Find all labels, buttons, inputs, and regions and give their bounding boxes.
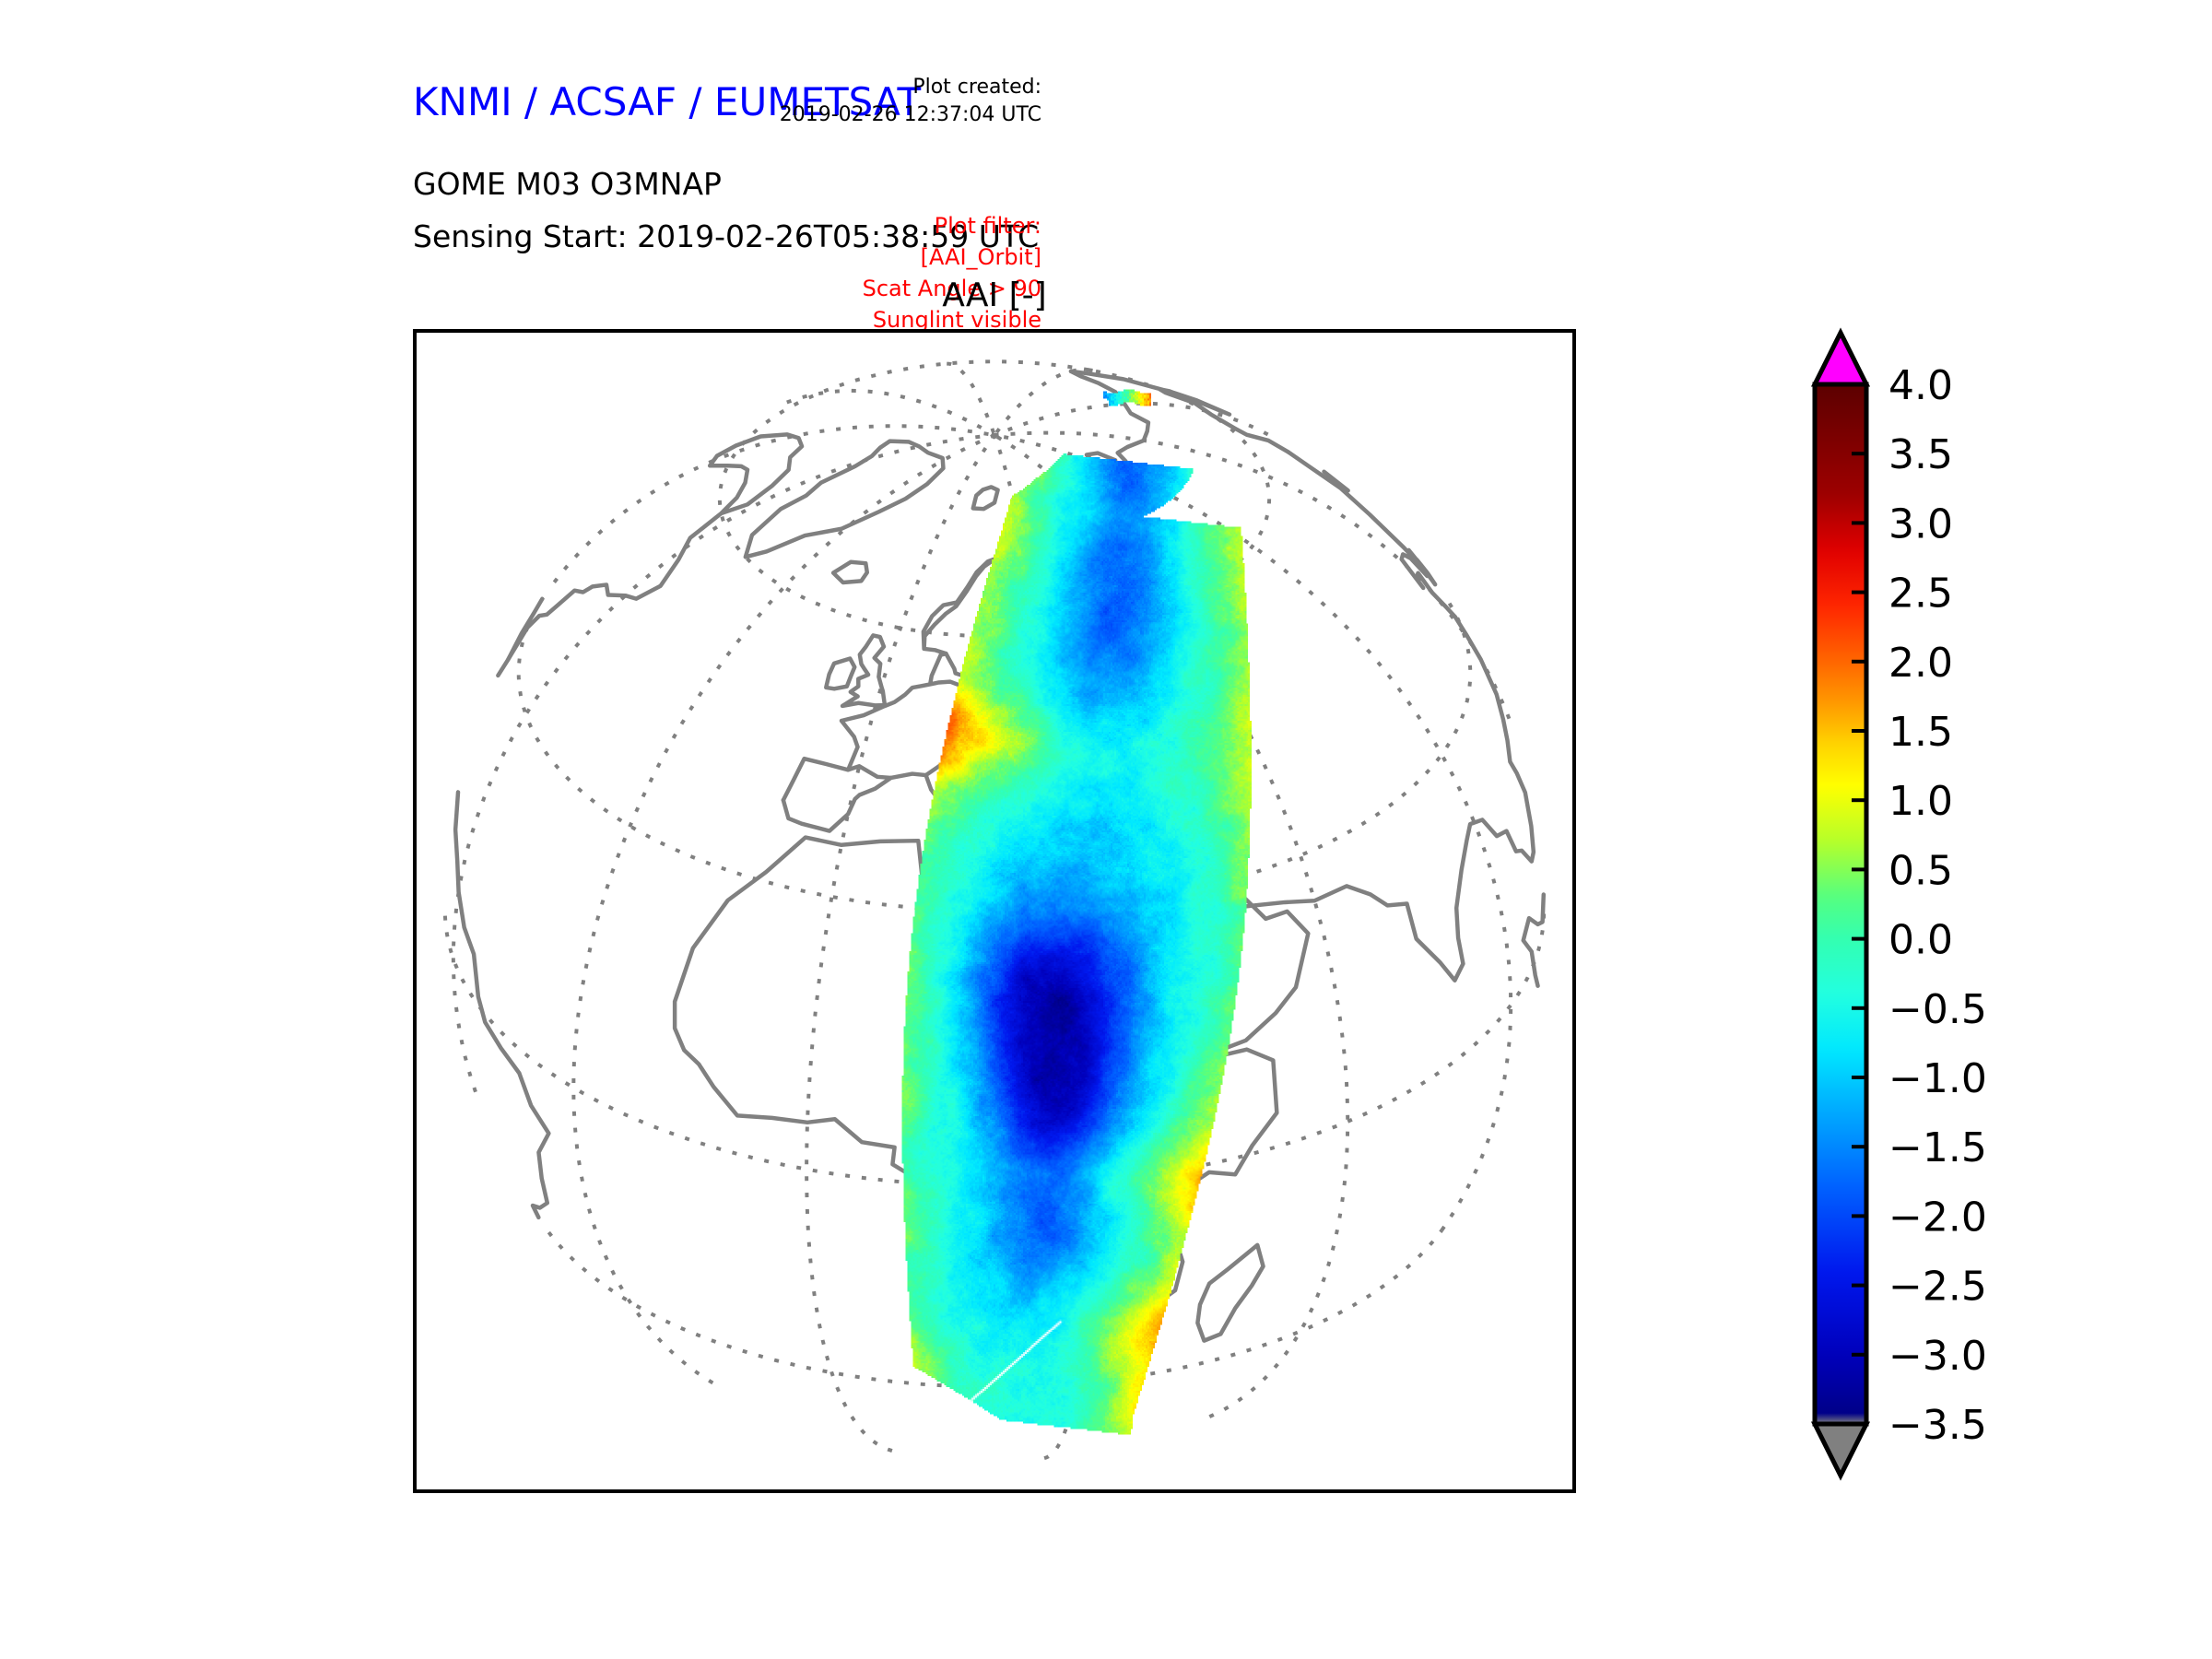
colorbar-tick-label: −2.5: [1888, 1264, 1987, 1311]
colorbar-tick-label: 2.0: [1888, 640, 1953, 687]
colorbar-over-range-arrow: [1815, 333, 1866, 384]
plot-filter-line-1: [AAI_Orbit]: [863, 241, 1041, 273]
colorbar-tick-label: 4.0: [1888, 362, 1953, 409]
aai-swath-raster: [417, 333, 1572, 1489]
colorbar-tick-label: −3.0: [1888, 1333, 1987, 1380]
colorbar-tick-label: 0.0: [1888, 917, 1953, 964]
plot-created-value: 2019-02-26 12:37:04 UTC: [780, 101, 1041, 129]
colorbar-tick-label: 3.5: [1888, 431, 1953, 478]
product-name: GOME M03 O3MNAP: [413, 166, 722, 202]
colorbar-gradient: [1815, 384, 1866, 1424]
plot-created-block: Plot created: 2019-02-26 12:37:04 UTC: [780, 74, 1041, 128]
plot-filter-title: Plot filter:: [863, 210, 1041, 241]
colorbar-svg: 4.03.53.02.52.01.51.00.50.0−0.5−1.0−1.5−…: [1802, 327, 2115, 1507]
colorbar-tick-label: −0.5: [1888, 986, 1987, 1033]
colorbar-tick-label: 3.0: [1888, 500, 1953, 547]
colorbar-tick-label: 2.5: [1888, 571, 1953, 618]
page-title: AAI [-]: [413, 276, 1576, 314]
colorbar: 4.03.53.02.52.01.51.00.50.0−0.5−1.0−1.5−…: [1802, 327, 2115, 1507]
colorbar-tick-label: −1.5: [1888, 1124, 1987, 1171]
colorbar-under-range-arrow: [1815, 1424, 1866, 1476]
colorbar-tick-label: 1.0: [1888, 778, 1953, 825]
colorbar-tick-label: 1.5: [1888, 709, 1953, 756]
colorbar-tick-label: −1.0: [1888, 1055, 1987, 1102]
colorbar-tick-label: 0.5: [1888, 847, 1953, 894]
plot-created-label: Plot created:: [780, 74, 1041, 101]
plot-filter-block: Plot filter: [AAI_Orbit] Scat Angle > 90…: [863, 210, 1041, 335]
colorbar-tick-label: −2.0: [1888, 1194, 1987, 1241]
map-plot-area: [413, 329, 1576, 1493]
colorbar-tick-label: −3.5: [1888, 1402, 1987, 1449]
